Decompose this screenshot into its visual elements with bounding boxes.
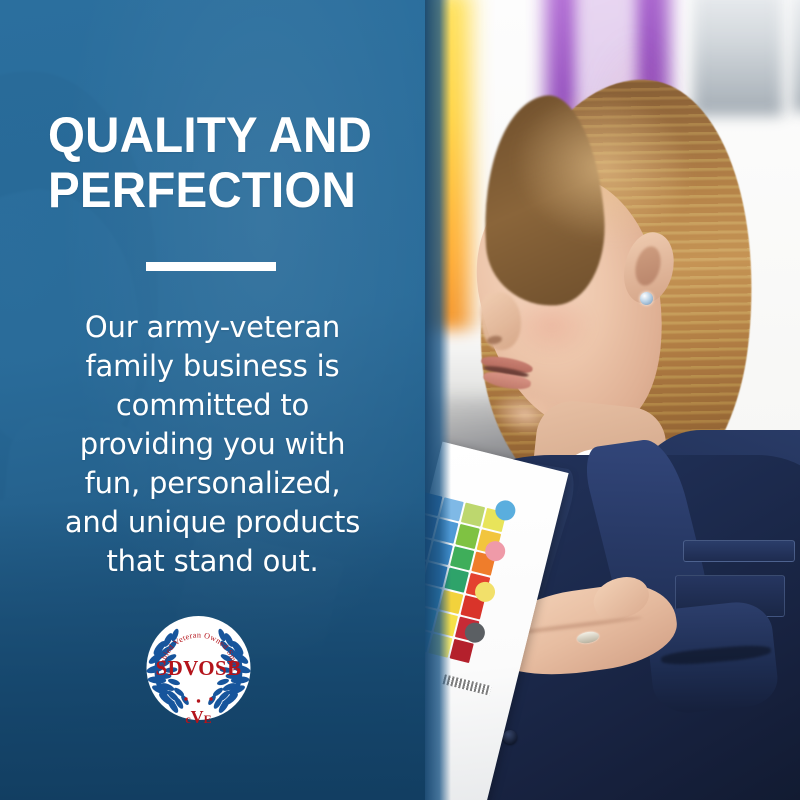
earring <box>640 292 653 305</box>
body-line-4: providing you with <box>40 425 385 464</box>
swatch-cell <box>455 524 479 549</box>
swatch-dot <box>463 621 487 645</box>
body-line-1: Our army-veteran <box>40 308 385 347</box>
sdvosb-seal: Service Disabled Veteran Owned Small Bus… <box>146 606 251 731</box>
body-line-3: committed to <box>40 386 385 425</box>
body-line-6: and unique products <box>40 503 385 542</box>
seal-center-text: SDVOSB <box>155 656 241 680</box>
text-content: QUALITY AND PERFECTION Our army-veteran … <box>0 0 425 800</box>
swatch-cell <box>461 503 485 528</box>
headline-line-2: PERFECTION <box>48 163 371 218</box>
body-line-2: family business is <box>40 347 385 386</box>
hero-photo <box>425 0 800 800</box>
divider-rule <box>146 262 276 271</box>
blazer-pocket-upper <box>683 540 795 562</box>
swatch-dot <box>483 539 507 563</box>
blazer-button-lower <box>503 730 517 744</box>
swatch-dot <box>493 498 517 522</box>
headline-line-1: QUALITY AND <box>48 108 371 163</box>
text-panel: QUALITY AND PERFECTION Our army-veteran … <box>0 0 425 800</box>
body-line-5: fun, personalized, <box>40 464 385 503</box>
photo-edge-overlay <box>425 0 451 800</box>
wall-frame-left <box>693 0 783 116</box>
sdvosb-seal-graphic: Service Disabled Veteran Owned Small Bus… <box>146 606 251 731</box>
banner-canvas: QUALITY AND PERFECTION Our army-veteran … <box>0 0 800 800</box>
body-line-7: that stand out. <box>40 542 385 581</box>
swatch-cell <box>450 546 474 571</box>
wall-frame-right <box>793 0 800 112</box>
body-copy: Our army-veteran family business is comm… <box>40 308 385 581</box>
swatch-dot <box>473 580 497 604</box>
page-title: QUALITY AND PERFECTION <box>48 108 371 218</box>
